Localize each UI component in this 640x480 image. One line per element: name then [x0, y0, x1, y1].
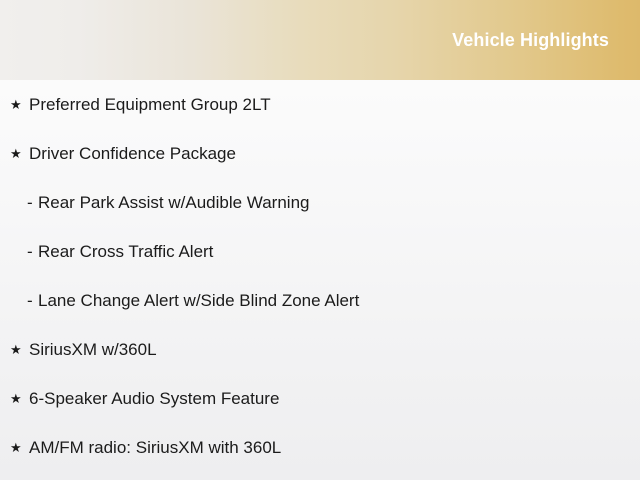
list-item: ★ AM/FM radio: SiriusXM with 360L [0, 423, 640, 472]
list-item: - Lane Change Alert w/Side Blind Zone Al… [0, 276, 640, 325]
list-item: - Rear Park Assist w/Audible Warning [0, 178, 640, 227]
star-bullet-icon: ★ [10, 423, 24, 472]
list-item: ★ SiriusXM w/360L [0, 325, 640, 374]
list-item: - Rear Cross Traffic Alert [0, 227, 640, 276]
star-bullet-icon: ★ [10, 80, 24, 129]
list-item-label: Preferred Equipment Group 2LT [29, 80, 271, 129]
dash-bullet-icon: - [27, 178, 37, 227]
list-item: ★ Driver Confidence Package [0, 129, 640, 178]
dash-bullet-icon: - [27, 276, 37, 325]
list-item-label: Rear Park Assist w/Audible Warning [38, 178, 309, 227]
star-bullet-icon: ★ [10, 374, 24, 423]
list-item: ★ 6-Speaker Audio System Feature [0, 374, 640, 423]
list-item-label: Driver Confidence Package [29, 129, 236, 178]
list-item-label: AM/FM radio: SiriusXM with 360L [29, 423, 281, 472]
dash-bullet-icon: - [27, 227, 37, 276]
list-item-label: Lane Change Alert w/Side Blind Zone Aler… [38, 276, 359, 325]
list-item: ★ Preferred Equipment Group 2LT [0, 80, 640, 129]
list-item-label: Rear Cross Traffic Alert [38, 227, 213, 276]
header-band: Vehicle Highlights [0, 0, 640, 80]
vehicle-highlights-panel: Vehicle Highlights ★ Preferred Equipment… [0, 0, 640, 480]
list-item-label: 6-Speaker Audio System Feature [29, 374, 279, 423]
list-item-label: SiriusXM w/360L [29, 325, 157, 374]
star-bullet-icon: ★ [10, 325, 24, 374]
vehicle-highlights-list: ★ Preferred Equipment Group 2LT ★ Driver… [0, 80, 640, 472]
page-title: Vehicle Highlights [452, 29, 609, 51]
star-bullet-icon: ★ [10, 129, 24, 178]
